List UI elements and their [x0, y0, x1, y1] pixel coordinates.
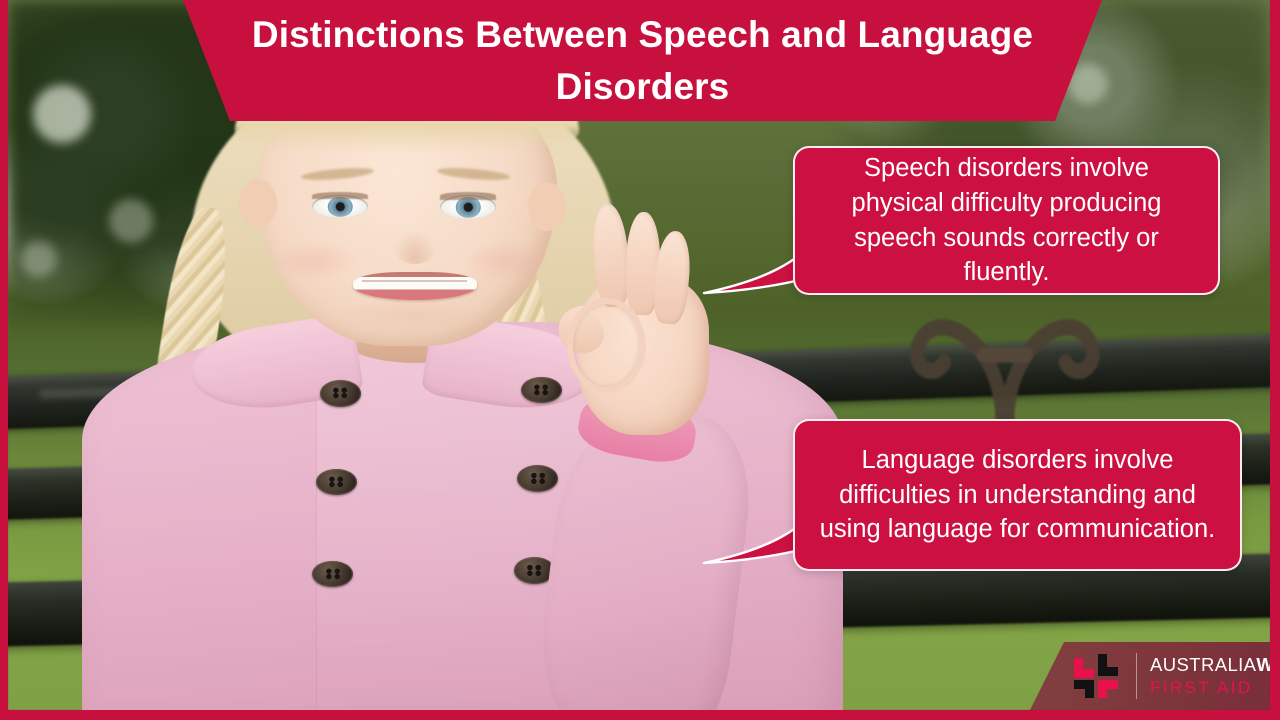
eyelash [440, 192, 496, 199]
eyelash [312, 192, 368, 199]
coat-button [312, 561, 353, 588]
logo-tagline: FIRST AID [1150, 679, 1280, 696]
eye-left [312, 195, 368, 219]
coat-button [320, 380, 361, 407]
eye-right [440, 195, 496, 219]
smiling-mouth [353, 272, 477, 301]
ok-hand-gesture [543, 199, 741, 444]
iris [456, 197, 480, 218]
iris [328, 196, 352, 217]
cheek-right [462, 240, 550, 281]
brand-logo[interactable]: AUSTRALIAWIDE FIRST AID [1030, 642, 1270, 710]
logo-divider [1136, 653, 1137, 699]
ear-left [239, 179, 277, 228]
language-disorders-text: Language disorders involve difficulties … [813, 443, 1222, 547]
logo-wordmark: AUSTRALIAWIDE FIRST AID [1150, 656, 1280, 696]
logo-name-plain: AUSTRALIA [1150, 654, 1256, 675]
nose [393, 230, 437, 264]
language-disorders-callout: Language disorders involve difficulties … [793, 419, 1242, 571]
coat-button [316, 469, 357, 496]
logo-name-bold: WIDE [1256, 654, 1280, 675]
cheek-left [272, 240, 360, 281]
bokeh-light [21, 241, 57, 277]
page-title: Distinctions Between Speech and Language… [183, 0, 1102, 121]
coat-button [517, 465, 558, 492]
pinwheel-cross-icon [1074, 654, 1126, 698]
infographic-slide: Distinctions Between Speech and Language… [0, 0, 1280, 720]
ok-ring [567, 298, 646, 393]
speech-disorders-callout: Speech disorders involve physical diffic… [793, 146, 1220, 295]
logo-name: AUSTRALIAWIDE [1150, 656, 1280, 675]
girl-figure [96, 43, 828, 710]
speech-disorders-text: Speech disorders involve physical diffic… [817, 151, 1196, 290]
